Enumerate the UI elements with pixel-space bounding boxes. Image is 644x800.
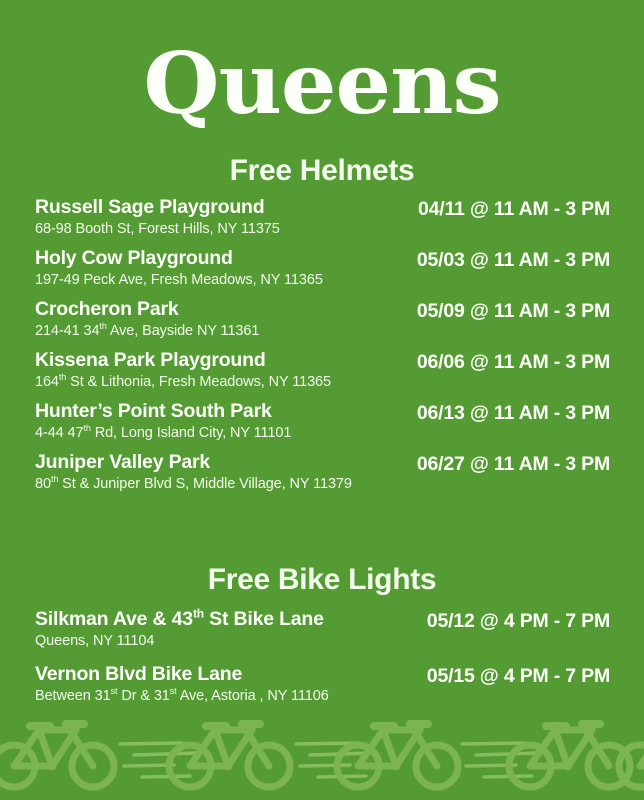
ordinal-suffix: th <box>83 423 90 433</box>
page-title: Queens <box>0 0 644 126</box>
event-venue-name: Kissena Park Playground <box>35 350 417 372</box>
poster-body: Queens Free Helmets Russell Sage Playgro… <box>0 0 644 800</box>
ordinal-suffix: th <box>99 321 106 331</box>
event-location-block: Holy Cow Playground197-49 Peck Ave, Fres… <box>35 248 417 289</box>
event-address: 197-49 Peck Ave, Fresh Meadows, NY 11365 <box>35 271 417 289</box>
event-address: 214-41 34th Ave, Bayside NY 11361 <box>35 322 417 340</box>
event-address: 164th St & Lithonia, Fresh Meadows, NY 1… <box>35 373 417 391</box>
event-datetime: 05/03 @ 11 AM - 3 PM <box>417 248 610 272</box>
free-helmets-event-list: Russell Sage Playground68-98 Booth St, F… <box>0 197 644 493</box>
section-spacer <box>0 503 644 563</box>
event-address: 68-98 Booth St, Forest Hills, NY 11375 <box>35 220 418 238</box>
event-row: Crocheron Park214-41 34th Ave, Bayside N… <box>0 299 644 340</box>
event-datetime: 05/12 @ 4 PM - 7 PM <box>427 609 610 633</box>
event-location-block: Russell Sage Playground68-98 Booth St, F… <box>35 197 418 238</box>
event-location-block: Crocheron Park214-41 34th Ave, Bayside N… <box>35 299 417 340</box>
ordinal-suffix: st <box>170 686 177 696</box>
event-address: 4-44 47th Rd, Long Island City, NY 11101 <box>35 424 417 442</box>
event-venue-name: Hunter’s Point South Park <box>35 401 417 423</box>
event-datetime: 06/06 @ 11 AM - 3 PM <box>417 350 610 374</box>
event-address: Between 31st Dr & 31st Ave, Astoria , NY… <box>35 687 427 705</box>
event-address: Queens, NY 11104 <box>35 632 427 650</box>
event-location-block: Juniper Valley Park80th St & Juniper Blv… <box>35 452 417 493</box>
event-row: Vernon Blvd Bike LaneBetween 31st Dr & 3… <box>0 664 644 705</box>
event-venue-name: Holy Cow Playground <box>35 248 417 270</box>
event-datetime: 06/27 @ 11 AM - 3 PM <box>417 452 610 476</box>
event-datetime: 05/09 @ 11 AM - 3 PM <box>417 299 610 323</box>
event-venue-name: Russell Sage Playground <box>35 197 418 219</box>
event-address: 80th St & Juniper Blvd S, Middle Village… <box>35 475 417 493</box>
event-location-block: Hunter’s Point South Park4-44 47th Rd, L… <box>35 401 417 442</box>
ordinal-suffix: th <box>193 606 204 620</box>
event-row: Russell Sage Playground68-98 Booth St, F… <box>0 197 644 238</box>
free-bike-lights-event-list: Silkman Ave & 43th St Bike LaneQueens, N… <box>0 609 644 705</box>
event-location-block: Kissena Park Playground164th St & Lithon… <box>35 350 417 391</box>
event-row: Silkman Ave & 43th St Bike LaneQueens, N… <box>0 609 644 650</box>
event-datetime: 05/15 @ 4 PM - 7 PM <box>427 664 610 688</box>
event-location-block: Vernon Blvd Bike LaneBetween 31st Dr & 3… <box>35 664 427 705</box>
event-datetime: 04/11 @ 11 AM - 3 PM <box>418 197 610 221</box>
section-heading-free-helmets: Free Helmets <box>0 154 644 188</box>
event-row: Hunter’s Point South Park4-44 47th Rd, L… <box>0 401 644 442</box>
event-venue-name: Juniper Valley Park <box>35 452 417 474</box>
event-row: Kissena Park Playground164th St & Lithon… <box>0 350 644 391</box>
event-venue-name: Silkman Ave & 43th St Bike Lane <box>35 609 427 631</box>
event-venue-name: Vernon Blvd Bike Lane <box>35 664 427 686</box>
event-row: Juniper Valley Park80th St & Juniper Blv… <box>0 452 644 493</box>
event-location-block: Silkman Ave & 43th St Bike LaneQueens, N… <box>35 609 427 650</box>
event-venue-name: Crocheron Park <box>35 299 417 321</box>
event-row: Holy Cow Playground197-49 Peck Ave, Fres… <box>0 248 644 289</box>
event-datetime: 06/13 @ 11 AM - 3 PM <box>417 401 610 425</box>
section-heading-free-bike-lights: Free Bike Lights <box>0 563 644 597</box>
